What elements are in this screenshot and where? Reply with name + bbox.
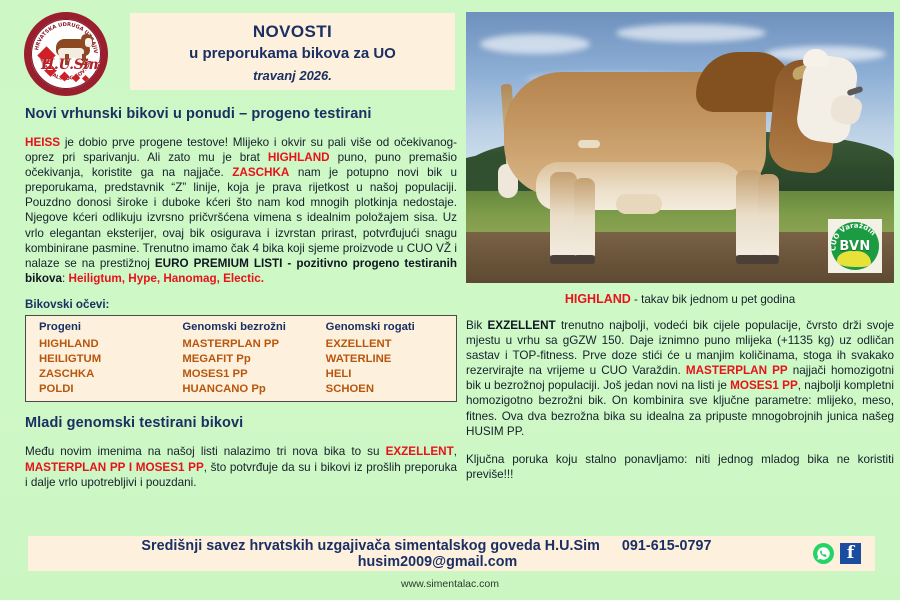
text-run: Među novim imenima na našoj listi nalazi… [25,445,386,458]
table-row: ZASCHKA MOSES1 PP HELI [26,367,456,382]
newsletter-page: HRVATSKA UDRUGA UZGAJIVAČA SIMENTALSKOG … [0,0,900,600]
title-line-1: NOVOSTI [130,21,455,43]
table-cell: HUANCANO Pp [169,381,312,396]
bvn-logo-icon: CUO Varaždin BVN [831,222,879,270]
bull-name-moses1-pp: MOSES1 PP [730,379,798,392]
bull-name-exzellent: EXZELLENT [386,445,454,458]
logo-wordmark: H.U.Sim. [41,57,105,73]
table-cell: MEGAFIT Pp [169,352,312,367]
whatsapp-icon[interactable] [813,543,834,564]
cloud [616,24,766,42]
caption-bull-name: HIGHLAND [565,292,631,306]
bull-name-highland: HIGHLAND [268,151,330,164]
table-label: Bikovski očevi: [25,298,457,311]
table-row: POLDI HUANCANO Pp SCHOEN [26,381,456,396]
table-cell: HEILIGTUM [26,352,169,367]
bull-photo: CUO Varaždin BVN [466,12,894,283]
table-row: HIGHLAND MASTERPLAN PP EXZELLENT [26,337,456,352]
bull-name-masterplan-pp: MASTERPLAN PP [686,364,788,377]
text-run: nam je potupno novi bik u preporukama, p… [25,166,457,270]
bvn-badge: CUO Varaždin BVN [828,219,882,273]
table-cell: MASTERPLAN PP [169,337,312,352]
paragraph-progeny: HEISS je dobio prve progene testove! Mli… [25,135,457,286]
footer-social-icons: f [813,543,875,564]
table-cell: MOSES1 PP [169,367,312,382]
table-header-genomski-bezrozni: Genomski bezrožni [169,320,312,337]
table-cell: HELI [313,367,456,382]
paragraph-young-bulls: Među novim imenima na našoj listi nalazi… [25,444,457,489]
table-cell: HIGHLAND [26,337,169,352]
header: HRVATSKA UDRUGA UZGAJIVAČA SIMENTALSKOG … [0,0,465,102]
table-header-row: Progeni Genomski bezrožni Genomski rogat… [26,320,456,337]
left-column: Novi vrhunski bikovi u ponudi – progeno … [25,106,457,490]
text-run: , [454,445,457,458]
bull-name-heiss: HEISS [25,136,60,149]
husim-logo: HRVATSKA UDRUGA UZGAJIVAČA SIMENTALSKOG … [24,12,108,96]
table-cell: EXZELLENT [313,337,456,352]
section-heading-young-bulls: Mladi genomski testirani bikovi [25,415,457,431]
table-cell: WATERLINE [313,352,456,367]
title-line-3: travanj 2026. [130,65,455,87]
right-column: CUO Varaždin BVN HIGHLAND - takav bik je… [466,12,894,495]
title-line-2: u preporukama bikova za UO [130,43,455,65]
paragraph-exzellent: Bik EXZELLENT trenutno najbolji, vodeći … [466,318,894,439]
footer-org-name: Središnji savez hrvatskih uzgajivača sim… [141,538,600,554]
photo-caption: HIGHLAND - takav bik jednom u pet godina [466,292,894,306]
bull-name-masterplan-pp: MASTERPLAN PP [25,461,125,474]
text-run: I [125,461,136,474]
bull-name-moses1-pp: MOSES1 PP [136,461,204,474]
bull-name-exzellent: EXZELLENT [488,319,556,332]
footer-contact: Središnji savez hrvatskih uzgajivača sim… [28,538,813,570]
text-run: Bik [466,319,488,332]
bull-figure [500,44,860,272]
title-box: NOVOSTI u preporukama bikova za UO trava… [130,13,455,90]
table-cell: POLDI [26,381,169,396]
bull-list-euro-premium: Heiligtum, Hype, Hanomag, Electic. [69,272,265,285]
table-header-progeni: Progeni [26,320,169,337]
facebook-glyph: f [840,543,861,564]
paragraph-key-message: Ključna poruka koju stalno ponavljamo: n… [466,452,894,482]
euro-premium-label: EURO PREMIUM LISTI [155,257,283,270]
sires-table: Progeni Genomski bezrožni Genomski rogat… [25,315,457,403]
table-header-genomski-rogati: Genomski rogati [313,320,456,337]
facebook-icon[interactable]: f [840,543,861,564]
caption-text: - takav bik jednom u pet godina [631,293,795,306]
footer-bar: Središnji savez hrvatskih uzgajivača sim… [28,536,875,571]
bull-name-zaschka: ZASCHKA [232,166,289,179]
table-cell: SCHOEN [313,381,456,396]
right-text-block: Bik EXZELLENT trenutno najbolji, vodeći … [466,318,894,482]
footer-email: husim2009@gmail.com [358,554,518,570]
footer-phone: 091-615-0797 [622,538,712,554]
section-heading-progeny: Novi vrhunski bikovi u ponudi – progeno … [25,106,457,122]
bvn-label: BVN [831,239,879,254]
table-row: HEILIGTUM MEGAFIT Pp WATERLINE [26,352,456,367]
site-url[interactable]: www.simentalac.com [0,578,900,590]
table-cell: ZASCHKA [26,367,169,382]
